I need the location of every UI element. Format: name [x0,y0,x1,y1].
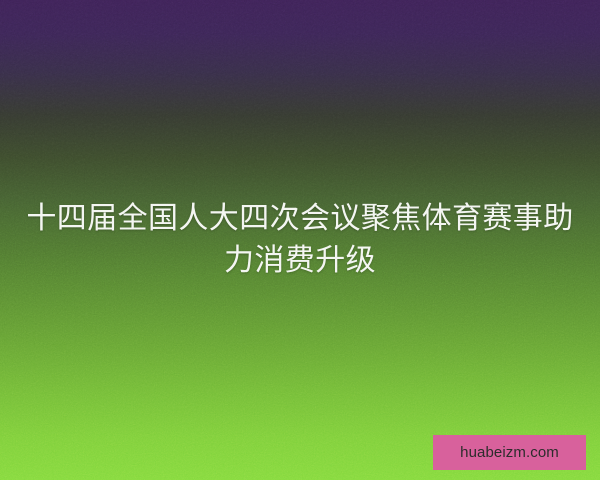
cover-title: 十四届全国人大四次会议聚焦体育赛事助力消费升级 [0,198,600,282]
cover-title-text: 十四届全国人大四次会议聚焦体育赛事助力消费升级 [18,198,582,282]
cover-image-canvas: 十四届全国人大四次会议聚焦体育赛事助力消费升级 huabeizm.com [0,0,600,480]
watermark-domain-label: huabeizm.com [460,445,559,460]
watermark-badge: huabeizm.com [433,435,586,470]
